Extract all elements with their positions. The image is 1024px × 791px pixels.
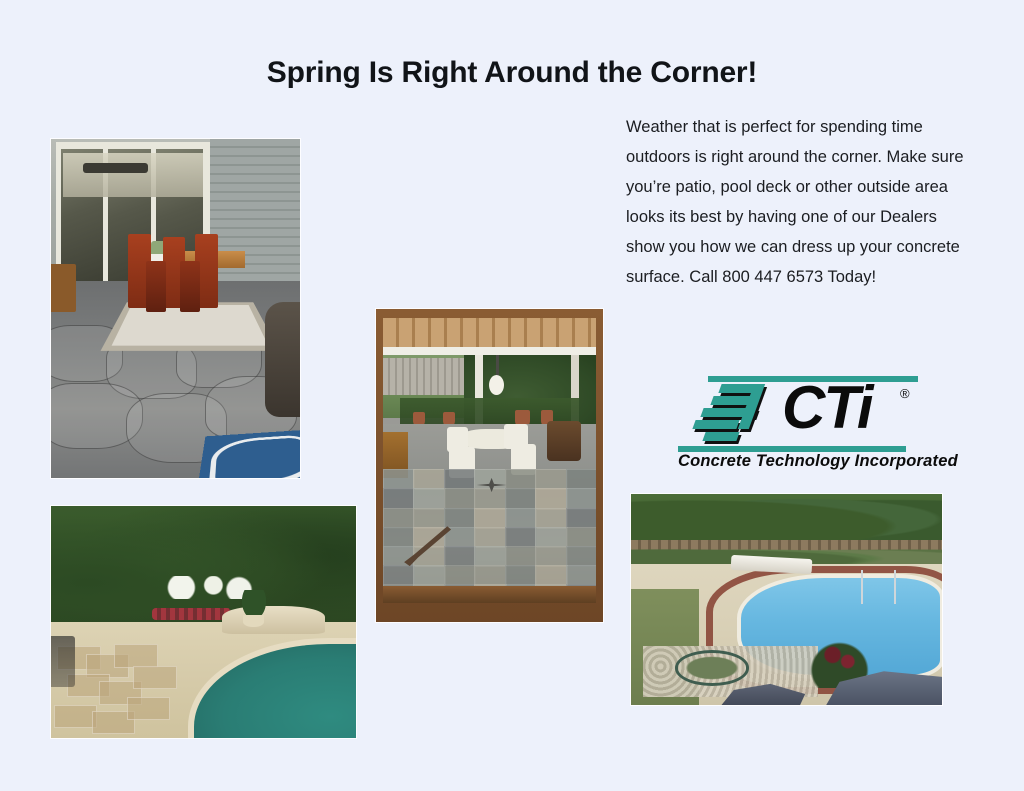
paver-tile [413,488,445,509]
paver-tile [535,565,567,586]
raised-spa [222,606,326,634]
deck-tile [133,666,176,689]
paver-tile [535,546,567,567]
paver-tile [444,488,476,509]
paver-tile [535,527,567,548]
deck-tile [114,644,157,667]
flyer-page: Spring Is Right Around the Corner! Weath… [0,0,1024,791]
dining-chair [180,261,200,312]
interior-ceiling [63,153,202,197]
paver-tile [383,508,415,529]
paver-tile [474,546,506,567]
cti-logo: CTi ® Concrete Technology Incorporated [664,372,918,472]
paver-tile [474,527,506,548]
registered-trademark-icon: ® [900,386,910,401]
mark-bar [702,432,739,441]
paver-tile [413,565,445,586]
photo-pool-stone [51,506,356,738]
patio-chair [51,636,75,687]
planter-ring [675,650,749,686]
deck-tile [127,697,170,720]
paver-tile [474,565,506,586]
paver-tile [566,546,596,567]
paver-tile [505,488,537,509]
logo-tagline: Concrete Technology Incorporated [678,452,958,471]
ceiling-fan [83,163,148,173]
paver-tile [505,469,537,490]
paver-tile [383,565,415,586]
paver-tile [566,488,596,509]
wood-fence [383,358,464,395]
tree-line [631,494,942,540]
rocking-chair [547,421,581,461]
paver-tile [444,508,476,529]
stone-planter [243,615,264,627]
paver-tile-grid [383,469,596,603]
paver-tile [474,508,506,529]
wicker-furniture [265,302,300,417]
paver-tile [383,469,415,490]
paver-tile [535,508,567,529]
photo-patio-pavers [376,309,603,622]
paver-tile [383,488,415,509]
wooden-cart [51,264,76,311]
house-siding [210,139,300,295]
paver-tile [444,546,476,567]
logo-wordmark: CTi [782,378,872,438]
paver-tile [413,508,445,529]
paver-tile [413,469,445,490]
paver-tile [535,488,567,509]
mark-bar [718,384,755,393]
photo-pool-brick [631,494,942,705]
page-title: Spring Is Right Around the Corner! [0,56,1024,90]
paver-tile [505,508,537,529]
paver-tile [566,565,596,586]
patio-scene [383,318,596,603]
cti-mark-icon [690,384,782,446]
paver-tile [383,527,415,548]
paver-tile [505,527,537,548]
photo-patio-dining [51,139,300,478]
paver-tile [444,469,476,490]
red-flower-bed [152,608,231,620]
paver-tile [505,546,537,567]
blue-outdoor-rug [197,430,300,478]
paver-tile [444,565,476,586]
body-paragraph: Weather that is perfect for spending tim… [626,112,970,292]
paver-tile [566,527,596,548]
mark-bar [692,420,739,429]
paver-tile [474,488,506,509]
pool-ladder [861,570,896,604]
deck-tile [54,705,97,728]
paver-tile [535,469,567,490]
dining-chair [146,261,166,312]
deck-edge [383,586,596,603]
paver-tile [566,469,596,490]
paver-tile [505,565,537,586]
paver-tile [566,508,596,529]
